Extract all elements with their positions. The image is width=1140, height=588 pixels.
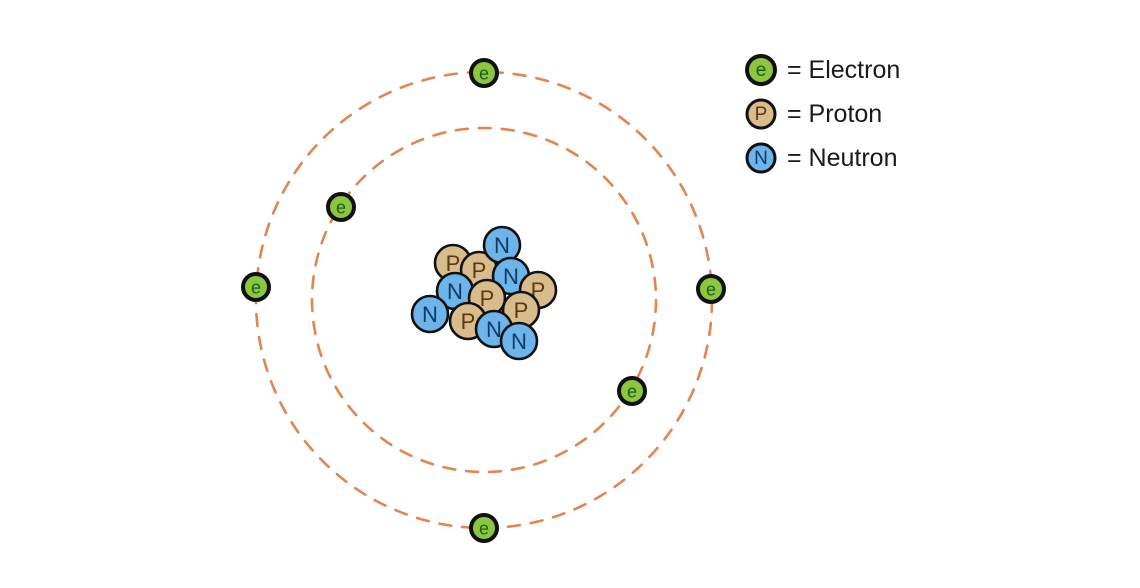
particle-label: N [511, 329, 527, 354]
particle-label: N [422, 302, 438, 327]
particle-label: N [447, 279, 463, 304]
legend-icon-symbol: P [755, 104, 768, 125]
particle-label: P [480, 286, 495, 311]
atom-illustration: PPNNPNPPNPNN eeeeee [0, 0, 1140, 588]
legend-icon-symbol: N [754, 148, 768, 169]
electron-label: e [336, 198, 346, 218]
particle-label: P [461, 309, 476, 334]
electron-label: e [627, 382, 637, 402]
atom-diagram-canvas: PPNNPNPPNPNN eeeeee e= ElectronP= Proton… [0, 0, 1140, 588]
nucleus: PPNNPNPPNPNN [412, 227, 556, 359]
electron-outer-shell: e [698, 276, 724, 302]
electron-inner-shell: e [328, 194, 354, 220]
electron-inner-shell: e [619, 378, 645, 404]
legend: e= ElectronP= ProtonN= Neutron [744, 52, 900, 176]
legend-row-electron: e= Electron [744, 52, 900, 88]
electron-outer-shell: e [471, 515, 497, 541]
electron-outer-shell: e [471, 60, 497, 86]
electron-label: e [479, 64, 489, 84]
electron-label: e [479, 519, 489, 539]
proton-icon: P [744, 97, 778, 131]
nucleus-particle-neutron: N [412, 296, 448, 332]
legend-label: = Electron [787, 58, 900, 83]
legend-label: = Neutron [787, 146, 898, 171]
particle-label: P [514, 298, 529, 323]
particle-label: N [503, 264, 519, 289]
electron-label: e [251, 278, 261, 298]
neutron-icon: N [744, 141, 778, 175]
particle-label: N [486, 317, 502, 342]
electron-outer-shell: e [243, 274, 269, 300]
legend-row-neutron: N= Neutron [744, 140, 900, 176]
electron-label: e [706, 280, 716, 300]
nucleus-particle-neutron: N [501, 323, 537, 359]
legend-row-proton: P= Proton [744, 96, 900, 132]
electron-icon: e [744, 53, 778, 87]
particle-label: N [494, 233, 510, 258]
legend-label: = Proton [787, 102, 882, 127]
legend-icon-symbol: e [756, 60, 767, 81]
